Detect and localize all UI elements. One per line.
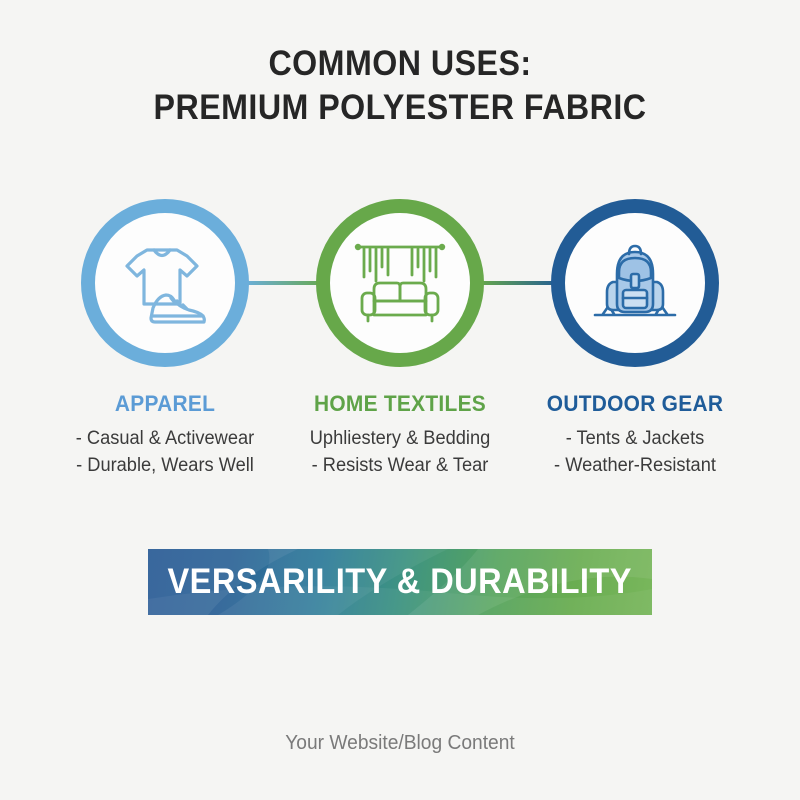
- column-apparel-line-1: - Casual & Activewear: [40, 425, 290, 452]
- circle-outdoor-gear[interactable]: [551, 199, 719, 367]
- column-heading-outdoor-gear: OUTDOOR GEAR: [512, 391, 759, 417]
- column-outdoor-gear-line-1: - Tents & Jackets: [510, 425, 760, 452]
- circle-apparel[interactable]: [81, 199, 249, 367]
- column-home-textiles: HOME TEXTILES Uphliestery & Bedding - Re…: [270, 391, 530, 479]
- versatility-banner: VERSARILITY & DURABILITY: [148, 549, 652, 615]
- icon-circles-row: [0, 199, 800, 371]
- column-heading-home-textiles: HOME TEXTILES: [277, 391, 524, 417]
- circle-home-textiles[interactable]: [316, 199, 484, 367]
- column-outdoor-gear-line-2: - Weather-Resistant: [510, 452, 760, 479]
- banner-label: VERSARILITY & DURABILITY: [168, 562, 632, 602]
- tshirt-sneaker-icon: [117, 238, 213, 328]
- page-title: COMMON USES: PREMIUM POLYESTER FABRIC: [0, 42, 800, 130]
- column-heading-apparel: APPAREL: [42, 391, 289, 417]
- title-line-1: COMMON USES:: [32, 42, 768, 86]
- column-outdoor-gear: OUTDOOR GEAR - Tents & Jackets - Weather…: [505, 391, 765, 479]
- column-home-textiles-line-1: Uphliestery & Bedding: [275, 425, 525, 452]
- column-apparel-line-2: - Durable, Wears Well: [40, 452, 290, 479]
- title-line-2: PREMIUM POLYESTER FABRIC: [32, 86, 768, 130]
- sofa-curtain-icon: [352, 237, 448, 329]
- backpack-tent-icon: [587, 238, 683, 328]
- column-apparel: APPAREL - Casual & Activewear - Durable,…: [35, 391, 295, 479]
- footer-text: Your Website/Blog Content: [16, 732, 784, 755]
- column-home-textiles-line-2: - Resists Wear & Tear: [275, 452, 525, 479]
- infographic-canvas: COMMON USES: PREMIUM POLYESTER FABRIC: [0, 0, 800, 800]
